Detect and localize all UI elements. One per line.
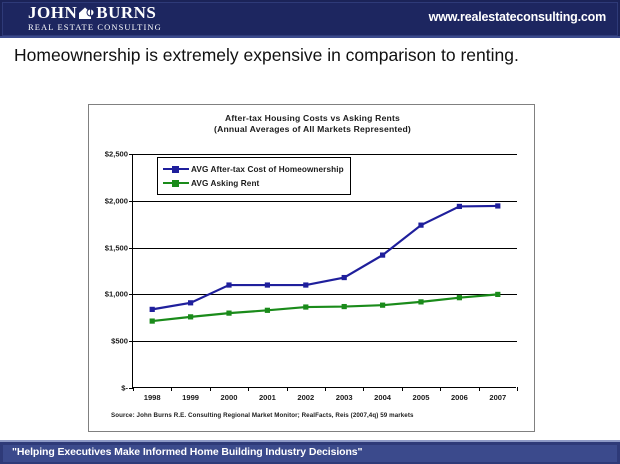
- data-point: [226, 311, 231, 316]
- data-point: [495, 292, 500, 297]
- x-axis-label: 2001: [259, 393, 276, 402]
- data-point: [418, 299, 423, 304]
- legend-item-homeownership[interactable]: AVG After-tax Cost of Homeownership: [163, 162, 344, 176]
- data-point: [188, 314, 193, 319]
- footer-bar: "Helping Executives Make Informed Home B…: [0, 440, 620, 464]
- data-point: [380, 303, 385, 308]
- logo-word-burns: BURNS: [96, 3, 156, 22]
- data-point: [150, 307, 155, 312]
- legend-item-asking-rent[interactable]: AVG Asking Rent: [163, 176, 344, 190]
- x-axis-label: 2004: [374, 393, 391, 402]
- data-point: [303, 304, 308, 309]
- y-axis-label: $-: [121, 384, 128, 393]
- footer-tagline: "Helping Executives Make Informed Home B…: [12, 446, 362, 458]
- data-point: [342, 275, 347, 280]
- y-axis-label: $1,500: [105, 243, 128, 252]
- x-axis-label: 2003: [336, 393, 353, 402]
- data-point: [150, 318, 155, 323]
- page-title: Homeownership is extremely expensive in …: [14, 44, 584, 67]
- x-axis-label: 2005: [413, 393, 430, 402]
- data-point: [226, 282, 231, 287]
- data-point: [495, 203, 500, 208]
- legend-label-homeownership: AVG After-tax Cost of Homeownership: [191, 165, 344, 174]
- logo-wordmark: JOHNBURNS: [28, 3, 178, 22]
- y-axis-label: $1,000: [105, 290, 128, 299]
- chart-source-note: Source: John Burns R.E. Consulting Regio…: [111, 412, 414, 419]
- data-point: [457, 295, 462, 300]
- series-line-0: [152, 206, 498, 309]
- y-axis-label: $2,500: [105, 150, 128, 159]
- x-axis-label: 2006: [451, 393, 468, 402]
- legend-label-asking-rent: AVG Asking Rent: [191, 179, 259, 188]
- header-bar: JOHNBURNS REAL ESTATE CONSULTING www.rea…: [0, 0, 620, 38]
- chart-title: After-tax Housing Costs vs Asking Rents: [89, 113, 536, 124]
- y-axis-label: $500: [111, 337, 128, 346]
- chart-container: After-tax Housing Costs vs Asking Rents …: [88, 104, 535, 432]
- data-point: [380, 252, 385, 257]
- x-axis-label: 2007: [489, 393, 506, 402]
- legend-swatch-green-icon: [163, 179, 189, 188]
- data-point: [265, 282, 270, 287]
- data-point: [303, 282, 308, 287]
- chart-legend: AVG After-tax Cost of Homeownership AVG …: [157, 157, 351, 195]
- logo-word-john: JOHN: [28, 3, 77, 22]
- x-axis-label: 2002: [297, 393, 314, 402]
- data-point: [418, 223, 423, 228]
- website-url[interactable]: www.realestateconsulting.com: [429, 10, 606, 24]
- y-axis-label: $2,000: [105, 196, 128, 205]
- data-point: [188, 300, 193, 305]
- chart-subtitle: (Annual Averages of All Markets Represen…: [89, 124, 536, 135]
- x-axis-label: 2000: [221, 393, 238, 402]
- house-icon: [78, 5, 95, 19]
- company-logo: JOHNBURNS REAL ESTATE CONSULTING: [28, 3, 178, 35]
- logo-tagline: REAL ESTATE CONSULTING: [28, 22, 178, 32]
- x-axis-tick: [517, 387, 518, 391]
- x-axis-label: 1999: [182, 393, 199, 402]
- data-point: [342, 304, 347, 309]
- series-line-1: [152, 294, 498, 321]
- data-point: [265, 308, 270, 313]
- slide: JOHNBURNS REAL ESTATE CONSULTING www.rea…: [0, 0, 620, 464]
- data-point: [457, 204, 462, 209]
- x-axis-label: 1998: [144, 393, 161, 402]
- legend-swatch-blue-icon: [163, 165, 189, 174]
